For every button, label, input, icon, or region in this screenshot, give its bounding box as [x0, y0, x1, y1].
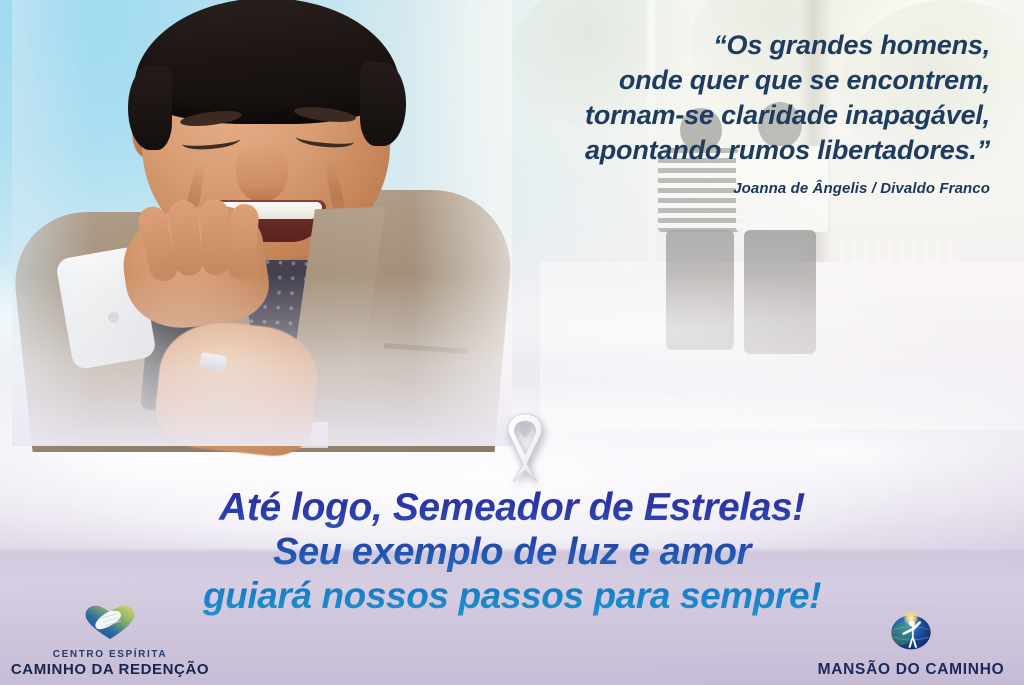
- nose: [236, 144, 288, 202]
- quote-line-1: “Os grandes homens,: [470, 28, 990, 63]
- logo-left-line-1: CENTRO ESPÍRITA: [10, 649, 210, 661]
- finger: [226, 203, 259, 281]
- logo-right-line-1: MANSÃO DO CAMINHO: [806, 661, 1016, 679]
- hands-heart-icon: [10, 601, 210, 646]
- headline-block: Até logo, Semeador de Estrelas! Seu exem…: [0, 486, 1024, 618]
- logo-mansao-do-caminho[interactable]: MANSÃO DO CAMINHO: [806, 610, 1016, 679]
- headline-line-2: Seu exemplo de luz e amor: [0, 531, 1024, 575]
- mourning-ribbon-icon: [489, 408, 561, 484]
- poster-canvas: “Os grandes homens, onde quer que se enc…: [0, 0, 1024, 685]
- portrait-photo: [12, 0, 512, 446]
- quote-block: “Os grandes homens, onde quer que se enc…: [470, 28, 990, 197]
- logo-left-line-2: CAMINHO DA REDENÇÃO: [10, 661, 210, 679]
- quote-attribution: Joanna de Ângelis / Divaldo Franco: [470, 180, 990, 197]
- quote-line-3: tornam-se claridade inapagável,: [470, 98, 990, 133]
- globe-figure-icon: [806, 610, 1016, 658]
- headline-line-1: Até logo, Semeador de Estrelas!: [0, 486, 1024, 531]
- cuff-button: [108, 312, 119, 323]
- logo-centro-espirita[interactable]: CENTRO ESPÍRITA CAMINHO DA REDENÇÃO: [10, 601, 210, 679]
- hair-side-left: [128, 66, 172, 150]
- finger: [200, 199, 231, 276]
- quote-line-4: apontando rumos libertadores.”: [470, 133, 990, 168]
- hair-side-right: [360, 62, 406, 146]
- quote-line-2: onde quer que se encontrem,: [470, 63, 990, 98]
